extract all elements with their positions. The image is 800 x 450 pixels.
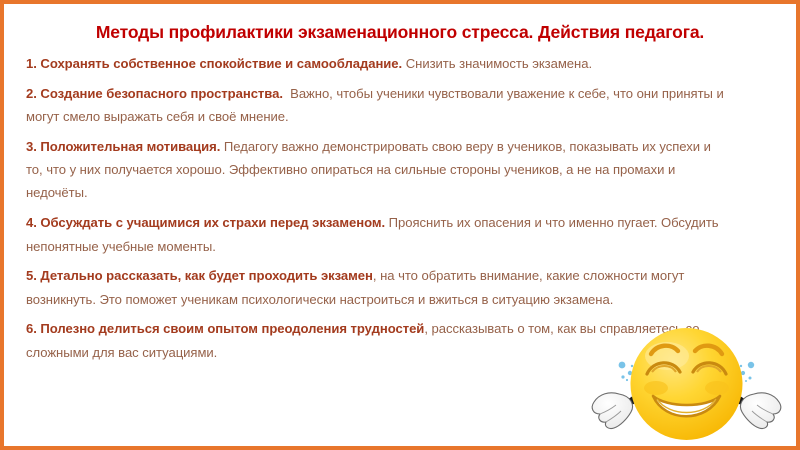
page-title: Методы профилактики экзаменационного стр… [26,22,774,43]
list-item-lead: 1. Сохранять собственное спокойствие и с… [26,56,402,71]
list-item-lead-text: Создание безопасного пространства. [40,86,283,101]
list-item-lead: 6. Полезно делиться своим опытом преодол… [26,321,424,336]
list-item-number: 6. [26,321,37,336]
list-item-lead: 2. Создание безопасного пространства. [26,86,283,101]
list-item-lead: 4. Обсуждать с учащимися их страхи перед… [26,215,385,230]
slide: Методы профилактики экзаменационного стр… [0,0,800,450]
list-item: 4. Обсуждать с учащимися их страхи перед… [26,211,726,258]
list-item-number: 3. [26,139,37,154]
list-item: 1. Сохранять собственное спокойствие и с… [26,52,726,75]
list-item-body: Снизить значимость экзамена. [406,56,592,71]
list-item-number: 5. [26,268,37,283]
list-item-number: 1. [26,56,37,71]
list-item-lead-text: Положительная мотивация. [40,139,220,154]
list-item-lead-text: Сохранять собственное спокойствие и само… [40,56,402,71]
list-item: 3. Положительная мотивация. Педагогу важ… [26,135,726,205]
list-item-lead-text: Детально рассказать, как будет проходить… [40,268,372,283]
smiley-face-illustration [579,322,794,446]
list-item-lead: 5. Детально рассказать, как будет проход… [26,268,373,283]
list-item-lead-text: Обсуждать с учащимися их страхи перед эк… [40,215,385,230]
list-item-lead: 3. Положительная мотивация. [26,139,220,154]
list-item-number: 4. [26,215,37,230]
list-item-lead-text: Полезно делиться своим опытом преодолени… [40,321,424,336]
face-icon [631,328,743,440]
list-item: 2. Создание безопасного пространства. Ва… [26,82,726,129]
list-item: 5. Детально рассказать, как будет проход… [26,264,738,311]
list-item-number: 2. [26,86,37,101]
